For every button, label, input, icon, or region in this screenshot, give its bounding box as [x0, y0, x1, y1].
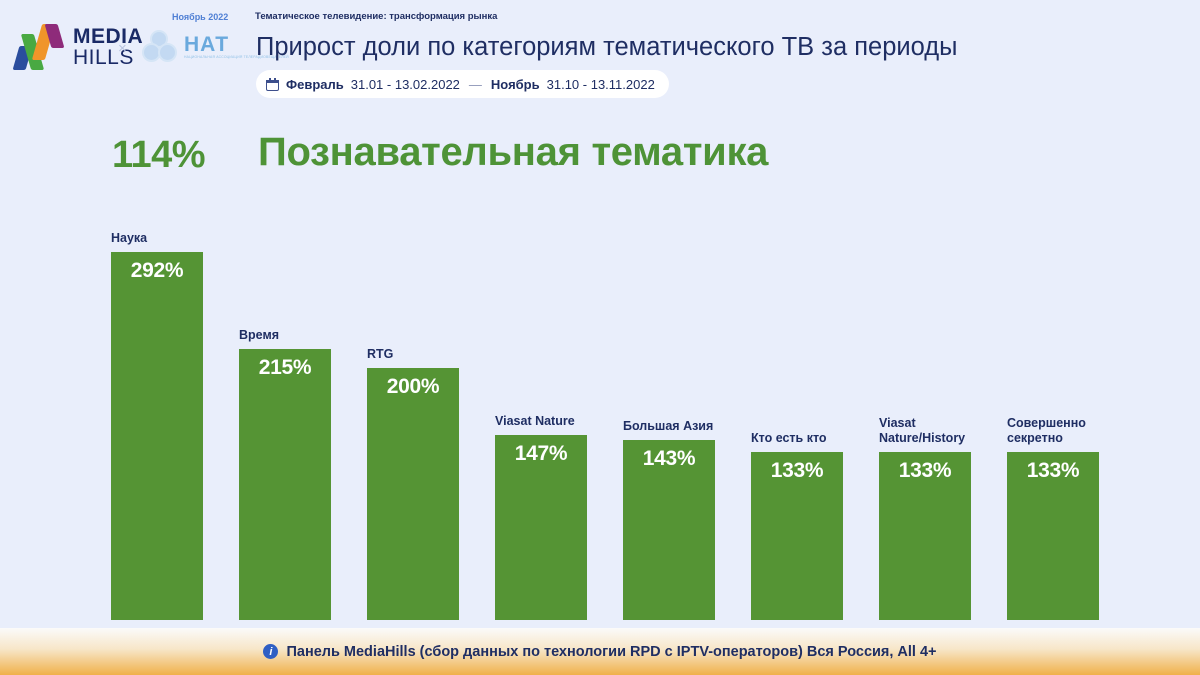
- bar-rect[interactable]: 133%: [751, 452, 843, 620]
- brand-line-2: HILLS: [73, 47, 143, 68]
- period-to-month: Ноябрь: [491, 77, 540, 92]
- bar-column[interactable]: Совершенно секретно133%: [1007, 200, 1099, 620]
- bar-rect[interactable]: 215%: [239, 349, 331, 620]
- bar-rect[interactable]: 200%: [367, 368, 459, 620]
- bar-category-label: RTG: [367, 347, 459, 363]
- bar-column[interactable]: Наука292%: [111, 200, 203, 620]
- nat-circles-icon: [142, 30, 180, 64]
- period-separator: —: [469, 77, 482, 92]
- bar-rect[interactable]: 133%: [1007, 452, 1099, 620]
- bar-column[interactable]: Viasat Nature147%: [495, 200, 587, 620]
- bar-category-label: Наука: [111, 231, 203, 247]
- period-to-range: 31.10 - 13.11.2022: [547, 77, 655, 92]
- bar-category-label: Viasat Nature: [495, 414, 587, 430]
- period-from-range: 31.01 - 13.02.2022: [351, 77, 460, 92]
- brand-line-1: MEDIA: [73, 26, 143, 47]
- bar-value-label: 133%: [1007, 459, 1099, 483]
- bar-column[interactable]: Кто есть кто133%: [751, 200, 843, 620]
- bar-value-label: 215%: [239, 356, 331, 380]
- slide-root: MEDIA HILLS × НАТ НАЦИОНАЛЬНАЯ АССОЦИАЦИ…: [0, 0, 1200, 675]
- bar-rect[interactable]: 147%: [495, 435, 587, 620]
- slide-header: MEDIA HILLS × НАТ НАЦИОНАЛЬНАЯ АССОЦИАЦИ…: [0, 0, 1200, 110]
- footer-note: Панель MediaHills (сбор данных по технол…: [286, 644, 936, 660]
- bar-category-label: Время: [239, 328, 331, 344]
- bar-chart: Наука292%Время215%RTG200%Viasat Nature14…: [0, 200, 1200, 620]
- period-selector[interactable]: Февраль 31.01 - 13.02.2022 — Ноябрь 31.1…: [256, 70, 669, 98]
- bar-value-label: 292%: [111, 259, 203, 283]
- bar-category-label: Большая Азия: [623, 419, 715, 435]
- times-separator-icon: ×: [118, 40, 127, 57]
- bar-rect[interactable]: 133%: [879, 452, 971, 620]
- slide-footer: i Панель MediaHills (сбор данных по техн…: [0, 628, 1200, 675]
- mediahills-wordmark: MEDIA HILLS: [73, 26, 143, 68]
- header-date-badge: Ноябрь 2022: [172, 12, 228, 22]
- bar-rect[interactable]: 292%: [111, 252, 203, 620]
- bar-column[interactable]: RTG200%: [367, 200, 459, 620]
- bar-column[interactable]: Время215%: [239, 200, 331, 620]
- bar-value-label: 147%: [495, 442, 587, 466]
- header-kicker: Тематическое телевидение: трансформация …: [255, 11, 497, 22]
- period-from-month: Февраль: [286, 77, 344, 92]
- bar-category-label: Кто есть кто: [751, 431, 843, 447]
- bar-rect[interactable]: 143%: [623, 440, 715, 620]
- headline-topic: Познавательная тематика: [258, 130, 768, 175]
- page-title: Прирост доли по категориям тематического…: [256, 33, 957, 62]
- bar-category-label: Viasat Nature/History: [879, 416, 971, 447]
- bar-category-label: Совершенно секретно: [1007, 416, 1099, 447]
- calendar-icon: [266, 78, 279, 91]
- bar-value-label: 133%: [751, 459, 843, 483]
- bar-column[interactable]: Большая Азия143%: [623, 200, 715, 620]
- bar-value-label: 133%: [879, 459, 971, 483]
- bar-value-label: 200%: [367, 375, 459, 399]
- bar-value-label: 143%: [623, 447, 715, 471]
- mediahills-mark-icon: [14, 24, 68, 70]
- info-icon: i: [263, 644, 278, 659]
- headline-percent: 114%: [112, 134, 205, 177]
- bar-column[interactable]: Viasat Nature/History133%: [879, 200, 971, 620]
